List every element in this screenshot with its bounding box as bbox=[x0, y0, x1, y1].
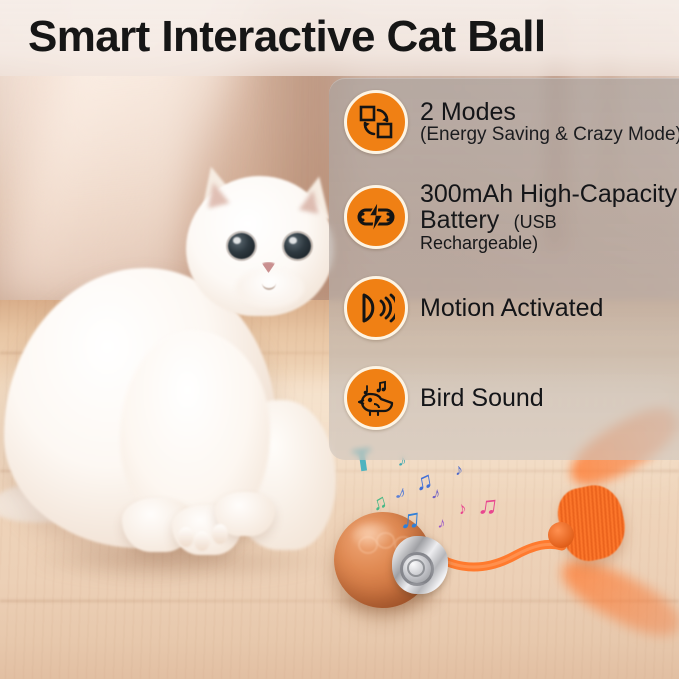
cat-eye-glint-left bbox=[233, 237, 241, 244]
two-modes-swap-icon bbox=[344, 90, 408, 154]
tassel-knot bbox=[548, 522, 574, 548]
ball-emboss-detail bbox=[358, 536, 378, 554]
cat-eye-right bbox=[284, 233, 311, 259]
feature-text-block: 300mAh High-Capacity Battery (USB Rechar… bbox=[420, 181, 679, 253]
product-marketing-image: ᴛ♪♫♪♪♪♫♫♫♪♪ Smart Interactive Cat Ball 2… bbox=[0, 0, 679, 679]
battery-charge-icon bbox=[344, 185, 408, 249]
music-note: ♫ bbox=[476, 491, 500, 521]
feature-callout-panel: 2 Modes (Energy Saving & Crazy Mode) 300… bbox=[329, 78, 679, 460]
feature-text-block: 2 Modes (Energy Saving & Crazy Mode) bbox=[420, 99, 679, 145]
cat-toe bbox=[212, 524, 228, 544]
feature-text-block: Motion Activated bbox=[420, 295, 603, 321]
feature-title: 2 Modes bbox=[420, 99, 679, 125]
cat-mouth bbox=[262, 276, 276, 290]
feature-item-motion[interactable]: Motion Activated bbox=[329, 276, 679, 340]
cat-eye-left bbox=[228, 233, 255, 259]
cat-toe bbox=[178, 527, 194, 547]
page-title: Smart Interactive Cat Ball bbox=[28, 12, 546, 62]
cat-photo bbox=[0, 0, 340, 600]
feature-title: 300mAh High-Capacity bbox=[420, 181, 679, 207]
feature-item-2-modes[interactable]: 2 Modes (Energy Saving & Crazy Mode) bbox=[329, 90, 679, 154]
feature-subtitle-row: Battery (USB Rechargeable) bbox=[420, 207, 679, 253]
music-note: ♪ bbox=[454, 463, 463, 480]
ball-emboss-detail bbox=[376, 532, 395, 549]
feature-title: Motion Activated bbox=[420, 295, 603, 321]
cat-toe bbox=[194, 531, 210, 551]
feature-title: Bird Sound bbox=[420, 385, 544, 411]
feature-subtitle: (Energy Saving & Crazy Mode) bbox=[420, 125, 679, 145]
bird-sound-icon bbox=[344, 366, 408, 430]
feature-item-bird-sound[interactable]: Bird Sound bbox=[329, 366, 679, 430]
ball-chrome-inner-ring bbox=[407, 559, 425, 577]
motion-sensor-icon bbox=[344, 276, 408, 340]
music-note: ♫ bbox=[399, 504, 422, 533]
feature-subtitle: Battery bbox=[420, 206, 499, 234]
feature-item-battery[interactable]: 300mAh High-Capacity Battery (USB Rechar… bbox=[329, 181, 679, 253]
feature-text-block: Bird Sound bbox=[420, 385, 544, 411]
title-banner: Smart Interactive Cat Ball bbox=[0, 0, 679, 76]
cat-eye-glint-right bbox=[289, 237, 297, 244]
